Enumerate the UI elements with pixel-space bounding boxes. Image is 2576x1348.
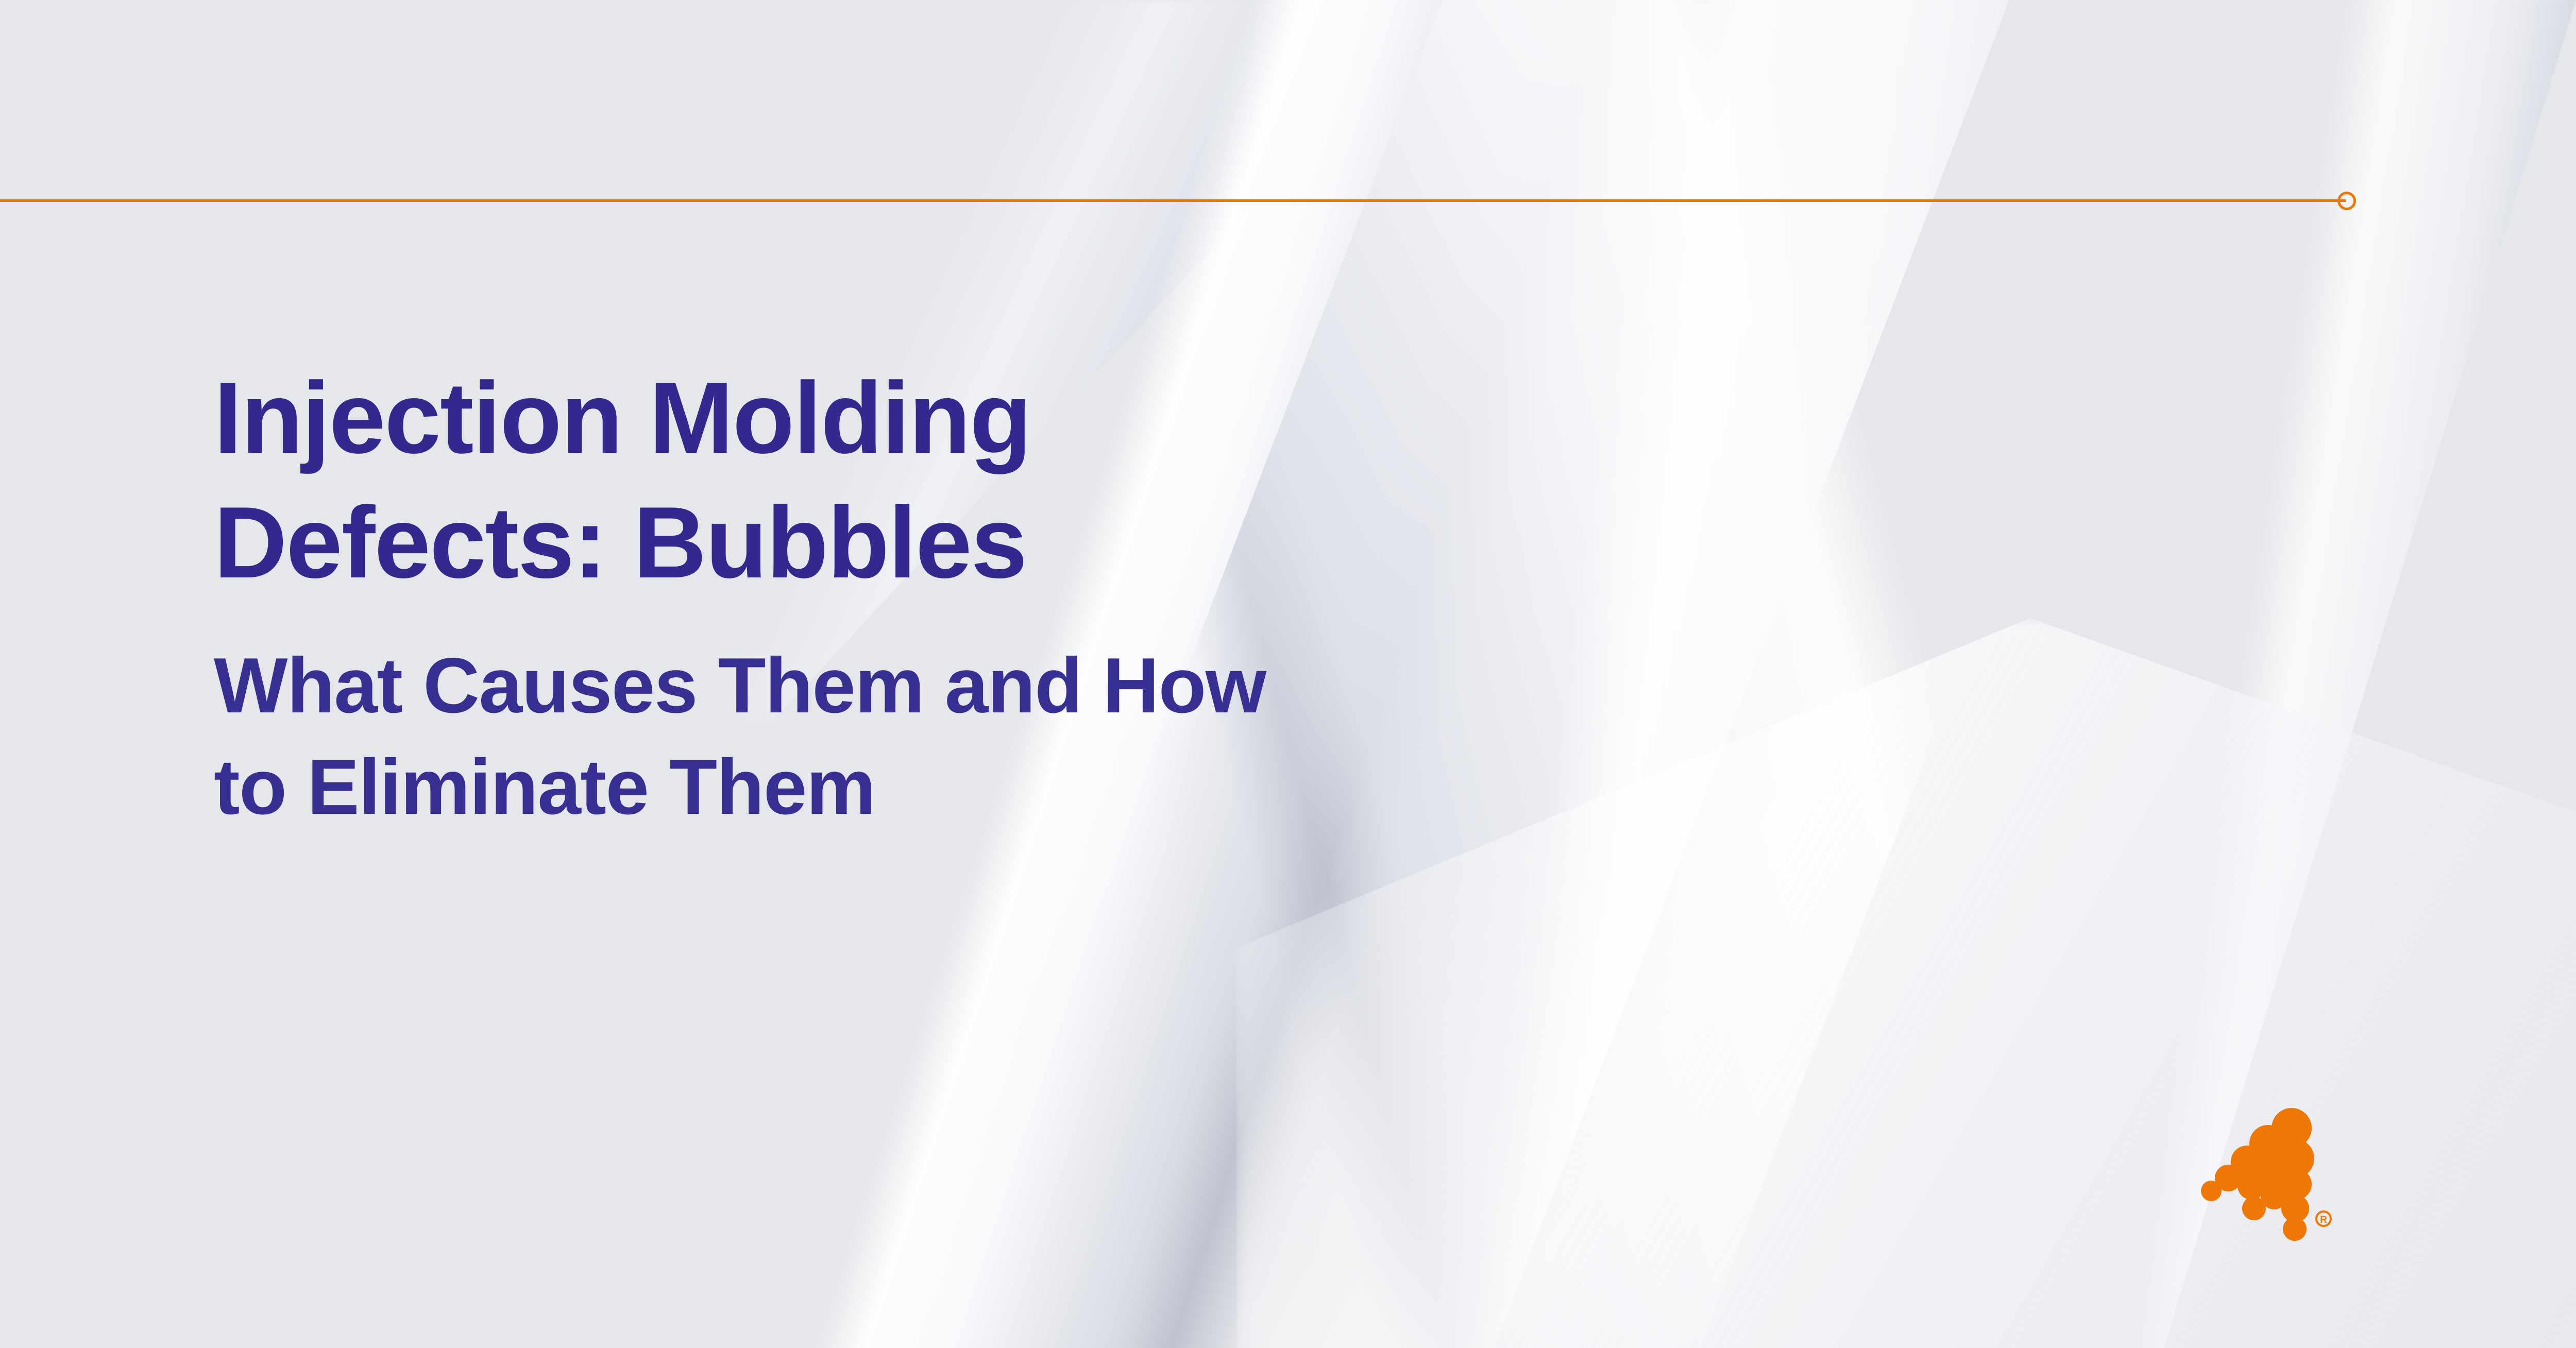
svg-text:R: R <box>2320 1215 2327 1225</box>
brand-logo: R <box>2199 1094 2374 1249</box>
title-slide: Injection Molding Defects: Bubbles What … <box>0 0 2576 1348</box>
divider-line <box>0 199 2346 202</box>
page-title: Injection Molding Defects: Bubbles <box>214 355 1965 605</box>
page-subtitle: What Causes Them and How to Eliminate Th… <box>214 605 1965 839</box>
divider <box>0 192 2576 209</box>
registered-trademark-icon: R <box>2316 1212 2331 1226</box>
title-block: Injection Molding Defects: Bubbles What … <box>214 355 1965 839</box>
dotted-arrow-icon: R <box>2199 1094 2374 1249</box>
divider-circle-icon <box>2337 192 2356 210</box>
